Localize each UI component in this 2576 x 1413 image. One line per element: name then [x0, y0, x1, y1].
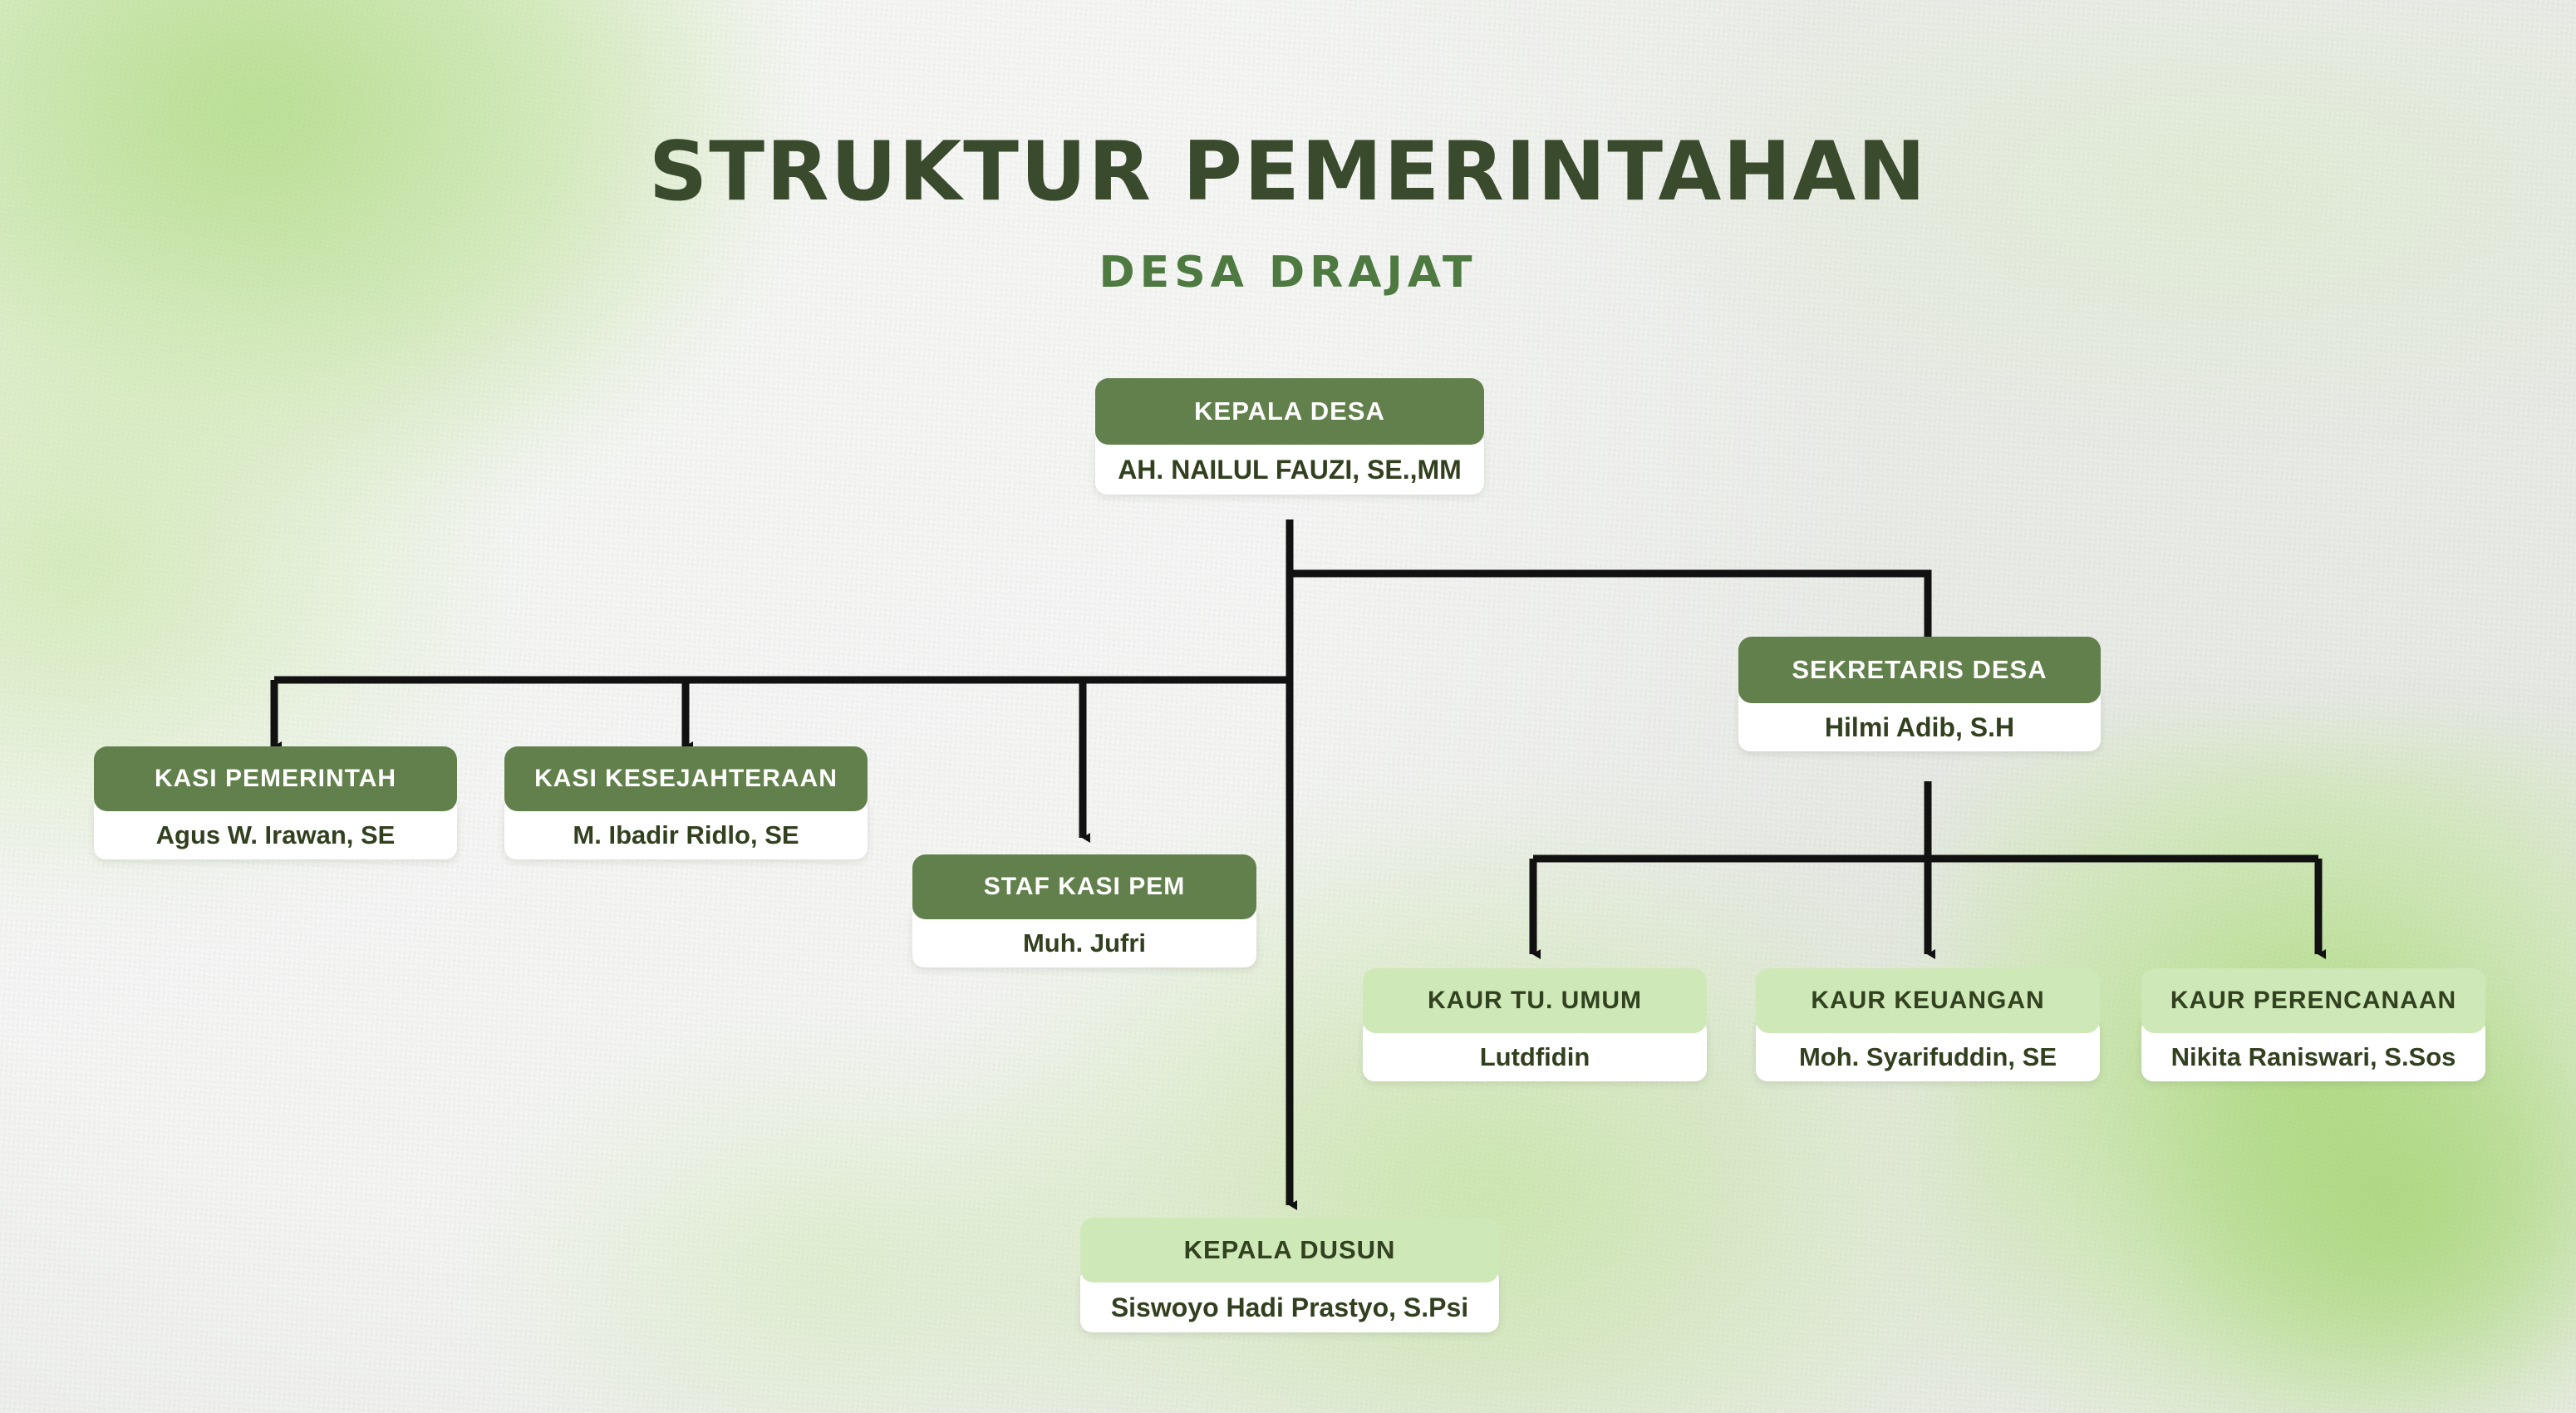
node-kaur-keuangan-position: KAUR KEUANGAN	[1756, 968, 2100, 1033]
node-sekretaris-desa-position: SEKRETARIS DESA	[1738, 637, 2101, 703]
node-staf-kasi-pem-position: STAF KASI PEM	[912, 854, 1256, 919]
node-kepala-dusun-position: KEPALA DUSUN	[1080, 1218, 1499, 1283]
node-kasi-pemerintah-position: KASI PEMERINTAH	[94, 746, 457, 811]
node-kaur-tu-umum-position: KAUR TU. UMUM	[1363, 968, 1707, 1033]
node-sekretaris-desa[interactable]: SEKRETARIS DESA Hilmi Adib, S.H	[1738, 637, 2101, 751]
page-title: STRUKTUR PEMERINTAHAN	[0, 125, 2576, 219]
node-kaur-keuangan[interactable]: KAUR KEUANGAN Moh. Syarifuddin, SE	[1756, 968, 2100, 1081]
node-kasi-kesejahteraan-position: KASI KESEJAHTERAAN	[504, 746, 868, 811]
org-chart-canvas: STRUKTUR PEMERINTAHAN DESA DRAJAT	[0, 0, 2576, 1413]
node-kepala-desa-position: KEPALA DESA	[1095, 378, 1484, 445]
node-kaur-tu-umum[interactable]: KAUR TU. UMUM Lutdfidin	[1363, 968, 1707, 1081]
node-kepala-desa[interactable]: KEPALA DESA AH. NAILUL FAUZI, SE.,MM	[1095, 378, 1484, 495]
node-kasi-kesejahteraan[interactable]: KASI KESEJAHTERAAN M. Ibadir Ridlo, SE	[504, 746, 868, 859]
node-kasi-pemerintah[interactable]: KASI PEMERINTAH Agus W. Irawan, SE	[94, 746, 457, 859]
node-staf-kasi-pem[interactable]: STAF KASI PEM Muh. Jufri	[912, 854, 1256, 967]
node-kaur-perencanaan-position: KAUR PERENCANAAN	[2141, 968, 2485, 1033]
node-kepala-dusun[interactable]: KEPALA DUSUN Siswoyo Hadi Prastyo, S.Psi	[1080, 1218, 1499, 1332]
page-subtitle: DESA DRAJAT	[0, 248, 2576, 298]
node-kaur-perencanaan[interactable]: KAUR PERENCANAAN Nikita Raniswari, S.Sos	[2141, 968, 2485, 1081]
